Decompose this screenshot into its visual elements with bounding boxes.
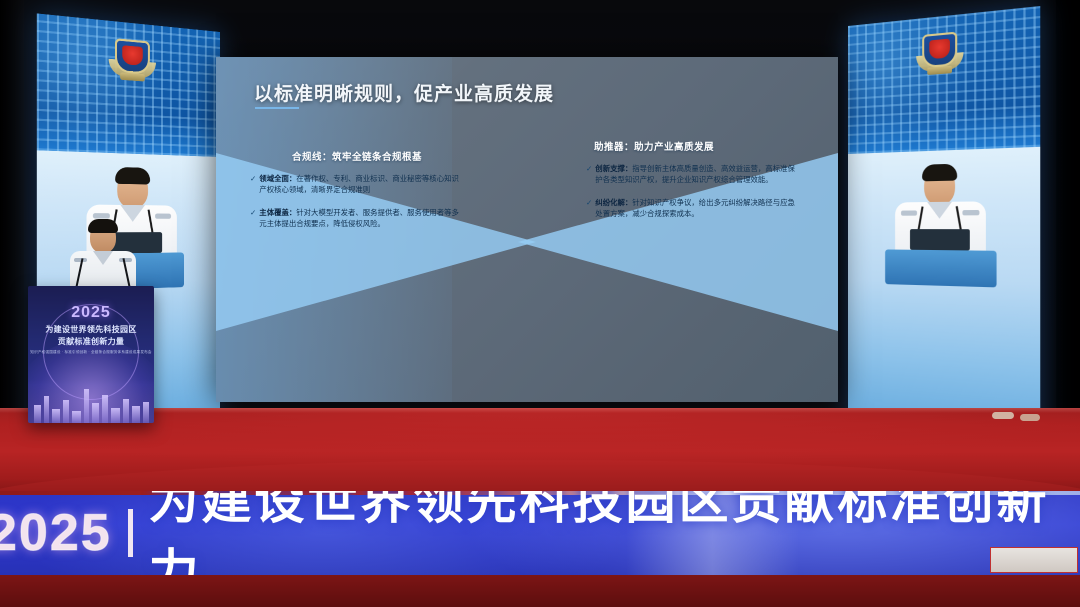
podium-line-2: 贡献标准创新力量 xyxy=(28,336,154,347)
block-heading: 助推器：助力产业高质发展 xyxy=(586,139,800,153)
screen-backdrop-pattern xyxy=(848,6,1040,154)
stage-left-column xyxy=(0,0,24,470)
banner-headline: 为建设世界领先科技园区贡献标准创新力 xyxy=(149,491,1080,575)
stage-scene: 以标准明晰规则，促产业高质发展 合规线：筑牢全链条合规根基 ✓ 领域全面：在著作… xyxy=(0,0,1080,607)
podium-line-1: 为建设世界领先科技园区 xyxy=(28,324,154,335)
bullet-item: ✓ 创新支撑：指导创新主体高质量创造、高效益运营，高标准保护各类型知识产权，提升… xyxy=(586,163,800,186)
slide-block-compliance: 合规线：筑牢全链条合规根基 ✓ 领域全面：在著作权、专利、商业标识、商业秘密等核… xyxy=(250,149,464,241)
bullet-label: 主体覆盖： xyxy=(259,208,296,217)
stage-floor xyxy=(0,408,1080,498)
speaker-head xyxy=(924,167,955,205)
speaker-video-figure xyxy=(887,166,994,281)
police-emblem-icon xyxy=(916,29,963,83)
bullet-item: ✓ 纠纷化解：针对知识产权争议，给出多元纠纷解决路径与应急处置方案，减少合规探索… xyxy=(586,197,800,220)
banner-corner-badge xyxy=(990,547,1078,573)
bullet-label: 创新支撑： xyxy=(595,164,632,173)
podium-line-3: 知识产权强国建设 · 标准引领创新 · 全链条合规服务体系建设成果发布会 xyxy=(28,350,154,355)
podium-skyline xyxy=(28,379,154,423)
screen-backdrop-pattern xyxy=(37,13,220,156)
slide-block-growth: 助推器：助力产业高质发展 ✓ 创新支撑：指导创新主体高质量创造、高效益运营，高标… xyxy=(586,139,800,231)
banner-year: 2025 xyxy=(0,503,112,563)
podium-sign: 2025 为建设世界领先科技园区 贡献标准创新力量 知识产权强国建设 · 标准引… xyxy=(28,286,154,423)
bullet-label: 纠纷化解： xyxy=(595,198,632,207)
speaker-head xyxy=(117,170,148,208)
podium-year: 2025 xyxy=(28,304,154,322)
bullet-item: ✓ 领域全面：在著作权、专利、商业标识、商业秘密等核心知识产权核心领域，清晰界定… xyxy=(250,173,464,196)
video-podium xyxy=(885,250,997,288)
police-emblem-icon xyxy=(109,35,156,89)
main-projection-screen: 以标准明晰规则，促产业高质发展 合规线：筑牢全链条合规根基 ✓ 领域全面：在著作… xyxy=(216,57,838,402)
stage-apron xyxy=(0,575,1080,607)
screen-live-feed xyxy=(848,147,1040,446)
shoe xyxy=(1020,414,1040,421)
side-screen-right xyxy=(848,6,1040,446)
shoe xyxy=(992,412,1014,419)
bullet-item: ✓ 主体覆盖：针对大模型开发者、服务提供者、服务使用者等多元主体提出合规要点，降… xyxy=(250,207,464,230)
bottom-banner: 2025 为建设世界领先科技园区贡献标准创新力 xyxy=(0,491,1080,575)
block-heading: 合规线：筑牢全链条合规根基 xyxy=(250,149,464,163)
slide-title-underline xyxy=(255,107,299,109)
check-icon: ✓ xyxy=(250,173,256,196)
stage-curtain-right xyxy=(1034,0,1080,470)
check-icon: ✓ xyxy=(250,207,256,230)
bullet-label: 领域全面： xyxy=(259,174,296,183)
check-icon: ✓ xyxy=(586,163,592,186)
check-icon: ✓ xyxy=(586,197,592,220)
laptop-icon xyxy=(910,229,970,250)
slide-title: 以标准明晰规则，促产业高质发展 xyxy=(254,79,554,106)
banner-separator xyxy=(128,509,133,557)
speaker-head xyxy=(90,222,116,253)
